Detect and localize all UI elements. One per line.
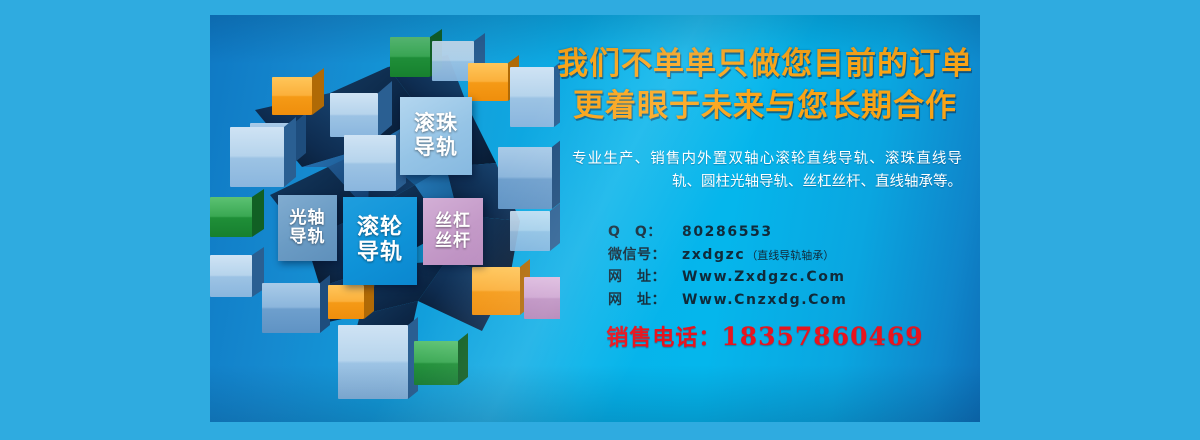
contact-info-block: Q Q： 80286553 微信号： zxdgzc （直线导轨轴承） 网 址： … bbox=[608, 221, 848, 312]
promo-banner: 滚珠 导轨 光轴 导轨 滚轮 导轨 丝杠 丝杆 我们不单单只做您目前的订单 更着… bbox=[0, 0, 1200, 440]
headline-line-1: 我们不单单只做您目前的订单 bbox=[550, 43, 980, 85]
banner-panel: 滚珠 导轨 光轴 导轨 滚轮 导轨 丝杠 丝杆 我们不单单只做您目前的订单 更着… bbox=[210, 15, 980, 422]
product-tag-guangzhou-daogui[interactable]: 光轴 导轨 bbox=[278, 195, 337, 261]
product-tag-line2: 丝杆 bbox=[435, 232, 471, 251]
product-tag-line2: 导轨 bbox=[290, 228, 326, 247]
contact-row-website-1: 网 址： Www.Zxdgzc.Com bbox=[608, 266, 848, 289]
product-tag-gunzhu-daogui[interactable]: 滚珠 导轨 bbox=[400, 97, 472, 175]
sales-phone-number[interactable]: 18357860469 bbox=[721, 322, 923, 351]
headline: 我们不单单只做您目前的订单 更着眼于未来与您长期合作 bbox=[550, 43, 980, 127]
contact-label: 微信号： bbox=[608, 244, 682, 267]
contact-value-website-1[interactable]: Www.Zxdgzc.Com bbox=[682, 266, 846, 289]
contact-value-qq[interactable]: 80286553 bbox=[682, 221, 773, 244]
product-tag-sigang-sigan[interactable]: 丝杠 丝杆 bbox=[423, 198, 483, 265]
contact-value-website-2[interactable]: Www.Cnzxdg.Com bbox=[682, 289, 847, 312]
product-tag-line1: 丝杠 bbox=[435, 212, 471, 231]
contact-label: Q Q： bbox=[608, 221, 682, 244]
contact-row-qq: Q Q： 80286553 bbox=[608, 221, 848, 244]
product-tag-gunlun-daogui[interactable]: 滚轮 导轨 bbox=[343, 197, 417, 285]
product-tag-line2: 导轨 bbox=[414, 136, 458, 160]
product-tag-line1: 光轴 bbox=[290, 209, 326, 228]
sales-phone[interactable]: 销售电话：18357860469 bbox=[550, 320, 980, 352]
contact-label: 网 址： bbox=[608, 289, 682, 312]
contact-row-wechat: 微信号： zxdgzc （直线导轨轴承） bbox=[608, 244, 848, 267]
contact-row-website-2: 网 址： Www.Cnzxdg.Com bbox=[608, 289, 848, 312]
product-tag-line1: 滚珠 bbox=[414, 112, 458, 136]
headline-line-2: 更着眼于未来与您长期合作 bbox=[550, 85, 980, 127]
banner-content: 我们不单单只做您目前的订单 更着眼于未来与您长期合作 专业生产、销售内外置双轴心… bbox=[550, 15, 980, 422]
product-tag-line1: 滚轮 bbox=[357, 216, 403, 241]
company-description: 专业生产、销售内外置双轴心滚轮直线导轨、滚珠直线导轨、圆柱光轴导轨、丝杠丝杆、直… bbox=[572, 148, 962, 195]
contact-value-wechat[interactable]: zxdgzc bbox=[682, 244, 745, 267]
product-tag-line2: 导轨 bbox=[357, 241, 403, 266]
contact-label: 网 址： bbox=[608, 266, 682, 289]
contact-note: （直线导轨轴承） bbox=[746, 247, 834, 265]
sales-phone-label: 销售电话： bbox=[606, 326, 721, 351]
